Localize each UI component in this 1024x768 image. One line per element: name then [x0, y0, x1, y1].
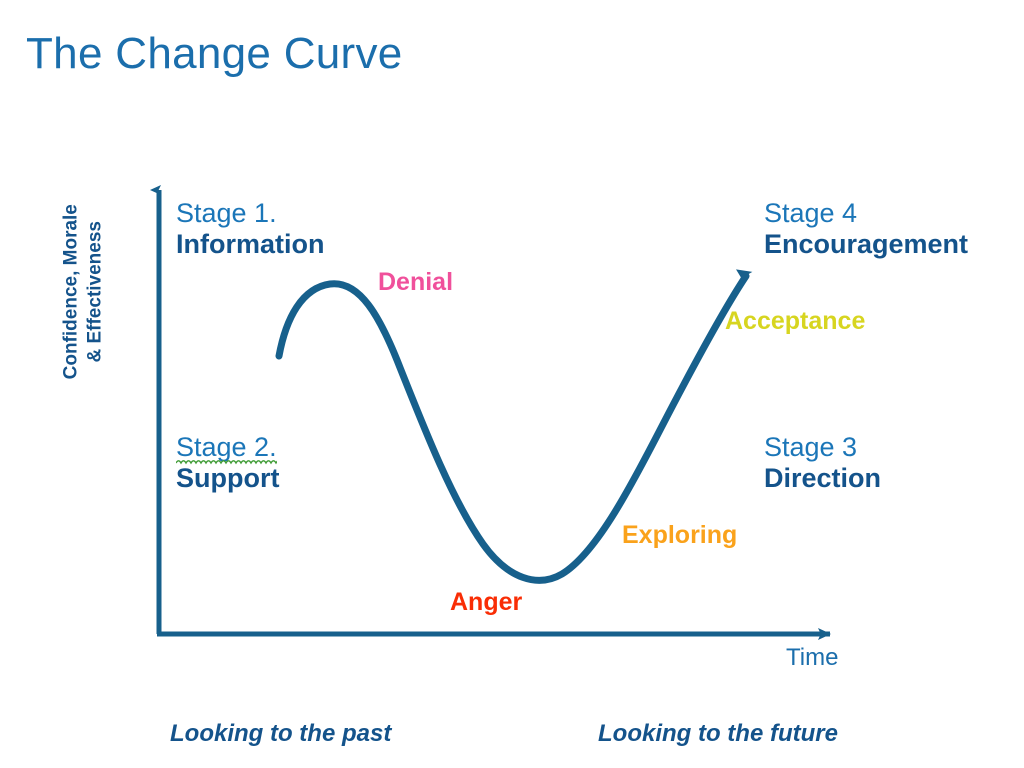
stage-2-label: Stage 2. Support — [176, 432, 279, 494]
stage-1-number: Stage 1. — [176, 198, 325, 229]
stage-4-name: Encouragement — [764, 229, 968, 260]
page-title: The Change Curve — [26, 28, 403, 80]
slide-canvas: The Change Curve Confidence, Morale & Ef… — [0, 0, 1024, 768]
stage-2-name: Support — [176, 463, 279, 494]
footer-caption-past: Looking to the past — [170, 720, 391, 748]
emotion-label-denial: Denial — [378, 268, 453, 297]
emotion-label-exploring: Exploring — [622, 521, 737, 550]
stage-2-number: Stage 2. — [176, 432, 279, 463]
footer-caption-future: Looking to the future — [598, 720, 838, 748]
emotion-label-acceptance: Acceptance — [725, 307, 865, 336]
stage-3-label: Stage 3 Direction — [764, 432, 881, 494]
stage-1-label: Stage 1. Information — [176, 198, 325, 260]
stage-3-number: Stage 3 — [764, 432, 881, 463]
stage-2-number-text: Stage 2. — [176, 432, 277, 462]
stage-1-name: Information — [176, 229, 325, 260]
stage-4-label: Stage 4 Encouragement — [764, 198, 968, 260]
stage-3-name: Direction — [764, 463, 881, 494]
y-axis-title: Confidence, Morale & Effectiveness — [59, 162, 107, 422]
change-curve-chart — [0, 0, 1024, 768]
emotion-label-anger: Anger — [450, 588, 522, 617]
x-axis-title: Time — [786, 644, 838, 672]
stage-4-number: Stage 4 — [764, 198, 968, 229]
